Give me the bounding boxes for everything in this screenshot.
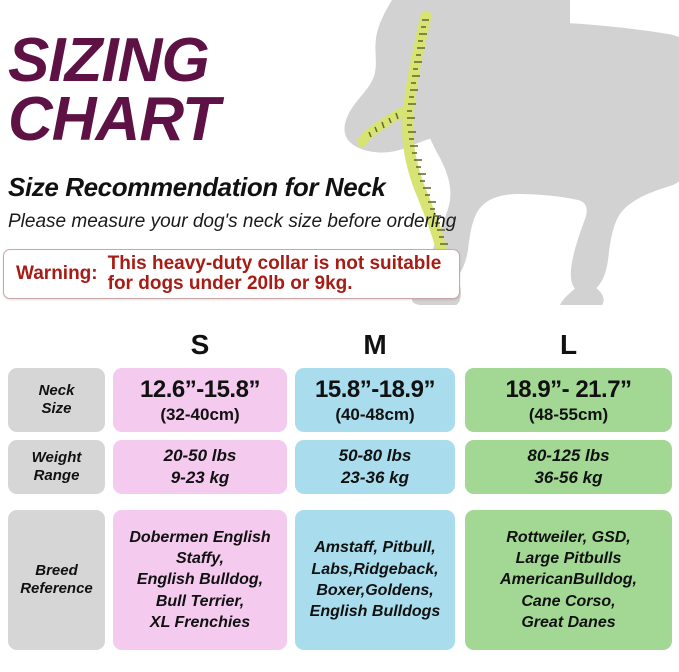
breed-line: Amstaff, Pitbull, [308,537,442,558]
breed-line: XL Frenchies [144,612,256,633]
breed-line: Dobermen English [123,527,276,548]
row-label-line-2: Size [41,400,71,418]
warning-box: Warning: This heavy-duty collar is not s… [3,249,460,299]
title-line-1: SIZING [8,32,478,89]
warning-line-1: This heavy-duty collar is not suitable [108,254,442,274]
column-header-m: M [295,330,455,360]
subtitle: Size Recommendation for Neck [8,172,488,203]
table-row-neck-size: Neck Size 12.6”-15.8” (32-40cm) 15.8”-18… [0,360,679,432]
weight-kg-l: 36-56 kg [534,467,602,489]
cell-weight-range-l: 80-125 lbs 36-56 kg [465,440,672,494]
breed-line: Rottweiler, GSD, [500,527,636,548]
neck-size-cm-l: (48-55cm) [529,405,608,425]
cell-neck-size-m: 15.8”-18.9” (40-48cm) [295,368,455,432]
table-column-headers: S M L [0,330,679,360]
breed-line: Staffy, [170,548,230,569]
weight-lbs-s: 20-50 lbs [164,445,237,467]
row-label-weight-range: Weight Range [8,440,105,494]
weight-kg-m: 23-36 kg [341,467,409,489]
warning-line-2: for dogs under 20lb or 9kg. [108,274,442,294]
breed-line: Labs,Ridgeback, [305,559,444,580]
neck-size-inches-s: 12.6”-15.8” [140,376,260,404]
row-label-line-1: Breed [35,562,78,580]
cell-breed-reference-m: Amstaff, Pitbull, Labs,Ridgeback, Boxer,… [295,510,455,650]
cell-weight-range-m: 50-80 lbs 23-36 kg [295,440,455,494]
cell-weight-range-s: 20-50 lbs 9-23 kg [113,440,287,494]
table-row-weight-range: Weight Range 20-50 lbs 9-23 kg 50-80 lbs… [0,432,679,502]
cell-neck-size-l: 18.9”- 21.7” (48-55cm) [465,368,672,432]
size-table: S M L Neck Size 12.6”-15.8” (32-40cm) 15… [0,330,679,660]
breed-line: Large Pitbulls [510,548,628,569]
neck-size-inches-m: 15.8”-18.9” [315,376,435,404]
column-header-s: S [113,330,287,360]
breed-line: Cane Corso, [515,591,621,612]
page-title: SIZING CHART [8,32,478,148]
warning-message: This heavy-duty collar is not suitable f… [108,254,442,294]
row-label-line-2: Reference [20,580,93,598]
warning-label: Warning: [4,263,108,285]
row-label-line-2: Range [34,467,80,485]
breed-line: Bull Terrier, [150,591,250,612]
breed-line: English Bulldogs [304,601,447,622]
breed-line: English Bulldog, [131,569,269,590]
neck-size-cm-s: (32-40cm) [160,405,239,425]
instruction-text: Please measure your dog's neck size befo… [8,211,508,233]
breed-line: Great Danes [515,612,621,633]
row-label-breed-reference: Breed Reference [8,510,105,650]
neck-size-cm-m: (40-48cm) [335,405,414,425]
neck-size-inches-l: 18.9”- 21.7” [505,376,631,404]
row-label-line-1: Weight [32,449,82,467]
weight-lbs-l: 80-125 lbs [527,445,609,467]
title-line-2: CHART [8,91,478,148]
breed-line: AmericanBulldog, [494,569,643,590]
row-label-neck-size: Neck Size [8,368,105,432]
column-header-l: L [465,330,672,360]
table-row-breed-reference: Breed Reference Dobermen English Staffy,… [0,502,679,660]
breed-line: Boxer,Goldens, [310,580,439,601]
weight-lbs-m: 50-80 lbs [339,445,412,467]
cell-neck-size-s: 12.6”-15.8” (32-40cm) [113,368,287,432]
cell-breed-reference-l: Rottweiler, GSD, Large Pitbulls American… [465,510,672,650]
cell-breed-reference-s: Dobermen English Staffy, English Bulldog… [113,510,287,650]
row-label-line-1: Neck [39,382,75,400]
weight-kg-s: 9-23 kg [171,467,230,489]
